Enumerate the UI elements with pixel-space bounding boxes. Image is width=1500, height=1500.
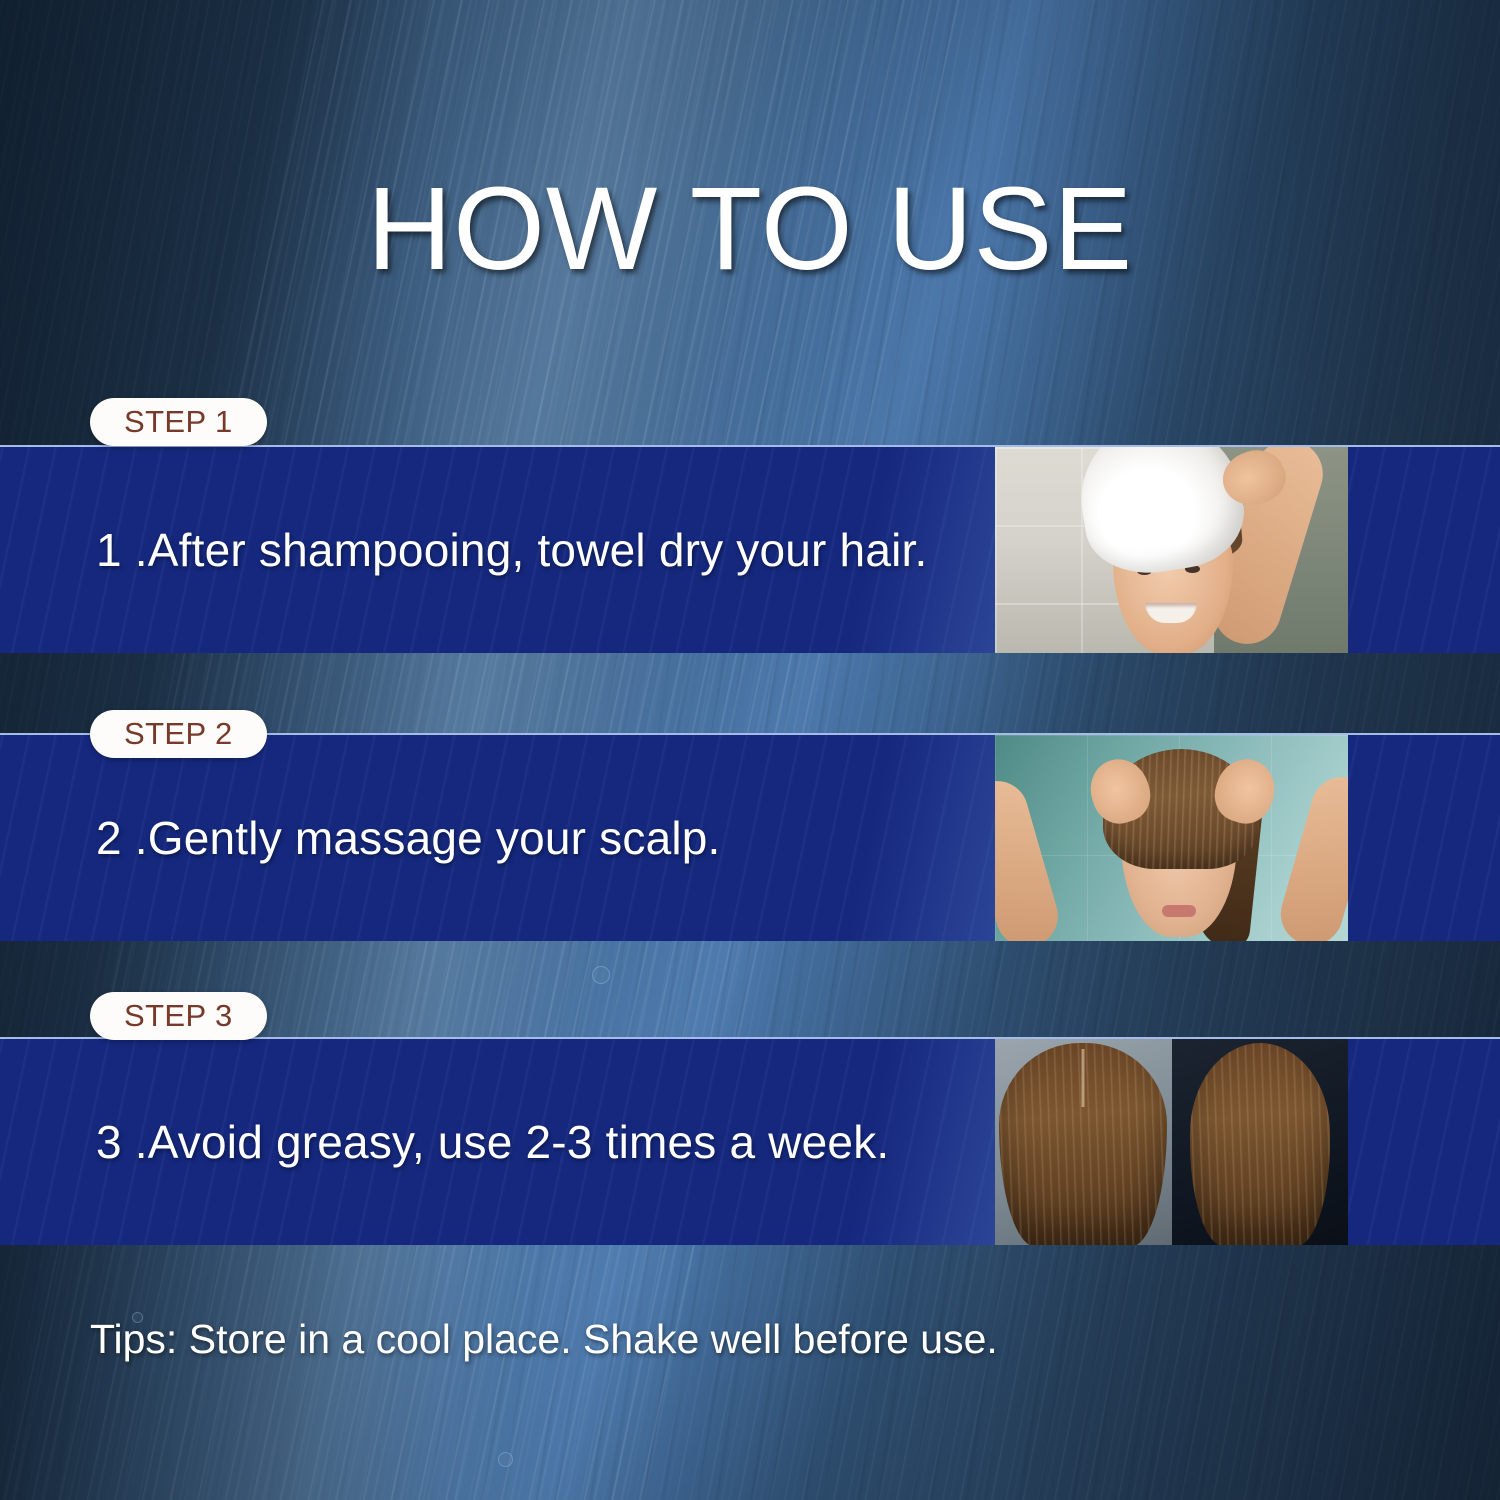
page-title: HOW TO USE xyxy=(0,168,1500,292)
step-2-text: 2 .Gently massage your scalp. xyxy=(96,811,721,865)
step-1-text: 1 .After shampooing, towel dry your hair… xyxy=(96,523,928,577)
how-to-use-poster: HOW TO USE STEP 1 1 .After shampooing, t… xyxy=(0,0,1500,1500)
hair-part xyxy=(1082,1049,1085,1107)
hair xyxy=(999,1043,1167,1245)
lips xyxy=(1162,905,1196,917)
step-row-1: 1 .After shampooing, towel dry your hair… xyxy=(0,445,1500,653)
step-3-image xyxy=(995,1039,1348,1245)
step-badge-1-label: STEP 1 xyxy=(124,404,233,440)
hair-strands xyxy=(1190,1043,1330,1245)
water-bubble-icon xyxy=(498,1452,513,1467)
after-photo-half xyxy=(1172,1039,1349,1245)
step-3-text: 3 .Avoid greasy, use 2-3 times a week. xyxy=(96,1115,889,1169)
tips-text: Tips: Store in a cool place. Shake well … xyxy=(90,1316,998,1363)
step-1-image xyxy=(995,447,1348,653)
step-badge-3: STEP 3 xyxy=(90,992,267,1040)
hair xyxy=(1190,1043,1330,1245)
water-bubble-icon xyxy=(592,966,610,984)
step-badge-3-label: STEP 3 xyxy=(124,998,233,1034)
step-row-3: 3 .Avoid greasy, use 2-3 times a week. xyxy=(0,1037,1500,1245)
before-photo-half xyxy=(995,1039,1172,1245)
step-badge-2: STEP 2 xyxy=(90,710,267,758)
step-badge-2-label: STEP 2 xyxy=(124,716,233,752)
step-badge-1: STEP 1 xyxy=(90,398,267,446)
step-2-image xyxy=(995,735,1348,941)
step-row-2: 2 .Gently massage your scalp. xyxy=(0,733,1500,941)
